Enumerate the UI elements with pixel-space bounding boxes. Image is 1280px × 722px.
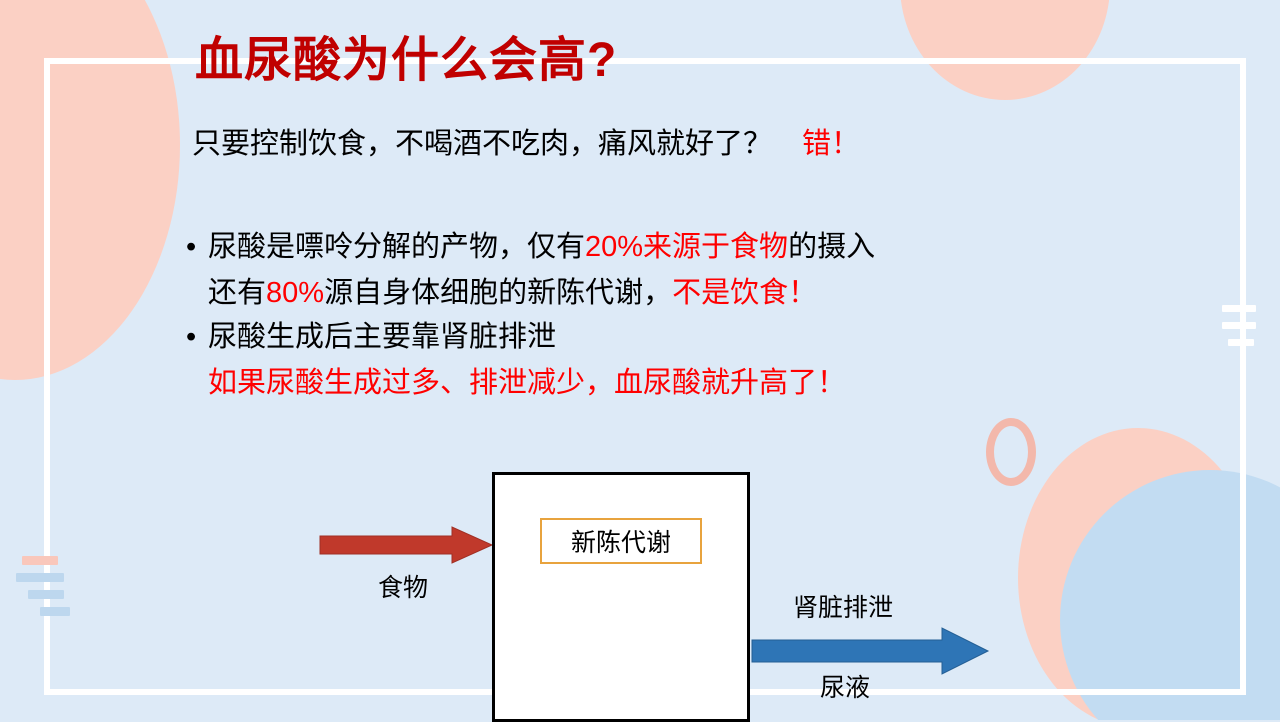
urine-label: 尿液 (820, 668, 870, 704)
subline-segment-highlight: 80% (266, 277, 324, 309)
metabolism-box (492, 472, 750, 722)
bullet-text: 尿酸生成后主要靠肾脏排泄 (208, 315, 556, 359)
kidney-excretion-label: 肾脏排泄 (793, 588, 893, 624)
subline-segment-highlight: 不是饮食！ (672, 277, 817, 309)
subtitle-text: 只要控制饮食，不喝酒不吃肉，痛风就好了？ (192, 128, 772, 160)
bullet-segment: 尿酸是嘌呤分解的产物，仅有 (208, 231, 585, 263)
list-item: • 尿酸是嘌呤分解的产物，仅有20%来源于食物的摄入 还有80%源自身体细胞的新… (186, 225, 1146, 315)
slide-content: 血尿酸为什么会高? 只要控制饮食，不喝酒不吃肉，痛风就好了？错！ • 尿酸是嘌呤… (0, 0, 1280, 720)
subline-segment: 源自身体细胞的新陈代谢， (324, 277, 672, 309)
bullet-subline: 如果尿酸生成过多、排泄减少，血尿酸就升高了！ (208, 361, 1146, 405)
bullet-text: 尿酸是嘌呤分解的产物，仅有20%来源于食物的摄入 (208, 225, 875, 269)
page-title: 血尿酸为什么会高? (195, 20, 617, 90)
metabolism-label: 新陈代谢 (540, 518, 702, 564)
subtitle: 只要控制饮食，不喝酒不吃肉，痛风就好了？错！ (192, 120, 860, 162)
bullet-marker: • (186, 315, 208, 359)
bullet-segment: 的摄入 (788, 231, 875, 263)
food-arrow-icon (320, 527, 492, 563)
list-item: • 尿酸生成后主要靠肾脏排泄 如果尿酸生成过多、排泄减少，血尿酸就升高了！ (186, 315, 1146, 405)
bullet-subline: 还有80%源自身体细胞的新陈代谢，不是饮食！ (208, 271, 1146, 315)
subline-segment: 还有 (208, 277, 266, 309)
bullet-marker: • (186, 225, 208, 269)
food-label: 食物 (378, 568, 428, 604)
bullet-segment-highlight: 20%来源于食物 (585, 231, 788, 263)
subtitle-emphasis: 错！ (802, 128, 860, 160)
bullet-list: • 尿酸是嘌呤分解的产物，仅有20%来源于食物的摄入 还有80%源自身体细胞的新… (186, 225, 1146, 405)
